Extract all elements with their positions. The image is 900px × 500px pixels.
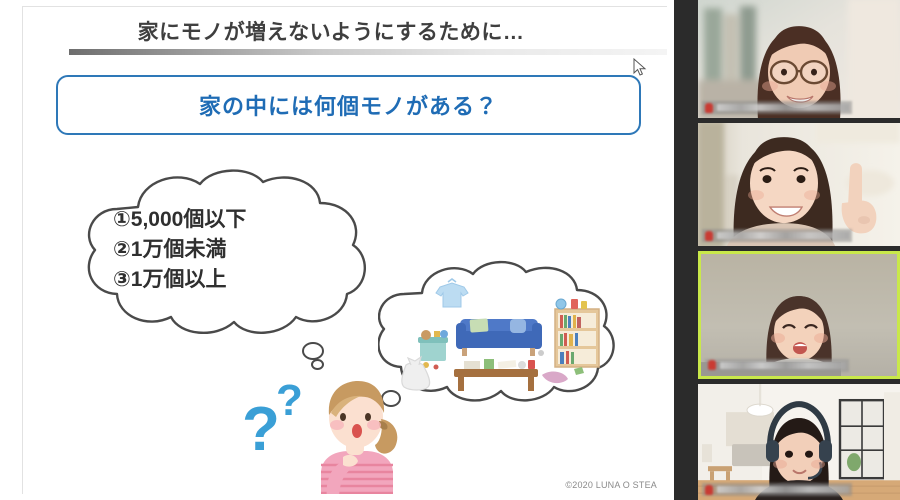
participant-filmstrip[interactable] [674,0,900,500]
room-thought-bubble [378,257,618,402]
option-item-1: ①5,000個以下 [113,205,246,235]
copyright-notice: ©2020 LUNA O STEA [565,480,657,490]
question-callout-box: 家の中には何個モノがある？ [56,75,641,135]
presentation-slide: 家にモノが増えないようにするために… 家の中には何個モノがある？ ①5,000個… [22,6,667,494]
mouse-pointer-icon [633,58,647,76]
participant-name-label [717,104,849,111]
options-bubble-tail-large [302,342,324,360]
participant-name-label [717,232,849,239]
options-bubble-tail-small [311,359,324,370]
participant-name-bar-3 [705,359,849,372]
option-item-3: ③1万個以上 [113,265,246,295]
mic-muted-icon [708,360,716,370]
option-item-2: ②1万個未満 [113,235,246,265]
participant-tile-2[interactable] [698,123,900,246]
bookshelf-illustration [555,299,599,367]
page-title: 家にモノが増えないようにするために… [23,16,667,46]
thinking-woman-illustration [303,373,407,494]
options-list: ①5,000個以下 ②1万個未満 ③1万個以上 [113,205,246,294]
participant-name-bar-1 [702,101,852,114]
mic-muted-icon [705,231,713,241]
participant-tile-1[interactable] [698,0,900,118]
meeting-window: 家にモノが増えないようにするために… 家の中には何個モノがある？ ①5,000個… [0,0,900,500]
participant-name-label [720,362,846,369]
screen-share-stage: 家にモノが増えないようにするために… 家の中には何個モノがある？ ①5,000個… [0,0,674,500]
question-mark-icon-large: ? [242,399,280,461]
mic-muted-icon [705,485,713,495]
participant-name-bar-2 [702,229,852,242]
participant-tile-4[interactable] [698,384,900,500]
participant-tile-3-active-speaker[interactable] [698,251,900,378]
title-divider [69,49,667,55]
question-mark-icon-small: ? [276,379,303,423]
question-text: 家の中には何個モノがある？ [199,89,498,121]
participant-video-3 [701,254,897,375]
participant-name-bar-4 [702,483,852,496]
participant-name-label [717,486,849,493]
options-thought-bubble: ①5,000個以下 ②1万個未満 ③1万個以上 [75,165,380,345]
mic-muted-icon [705,103,713,113]
participant-video-2 [698,123,900,246]
